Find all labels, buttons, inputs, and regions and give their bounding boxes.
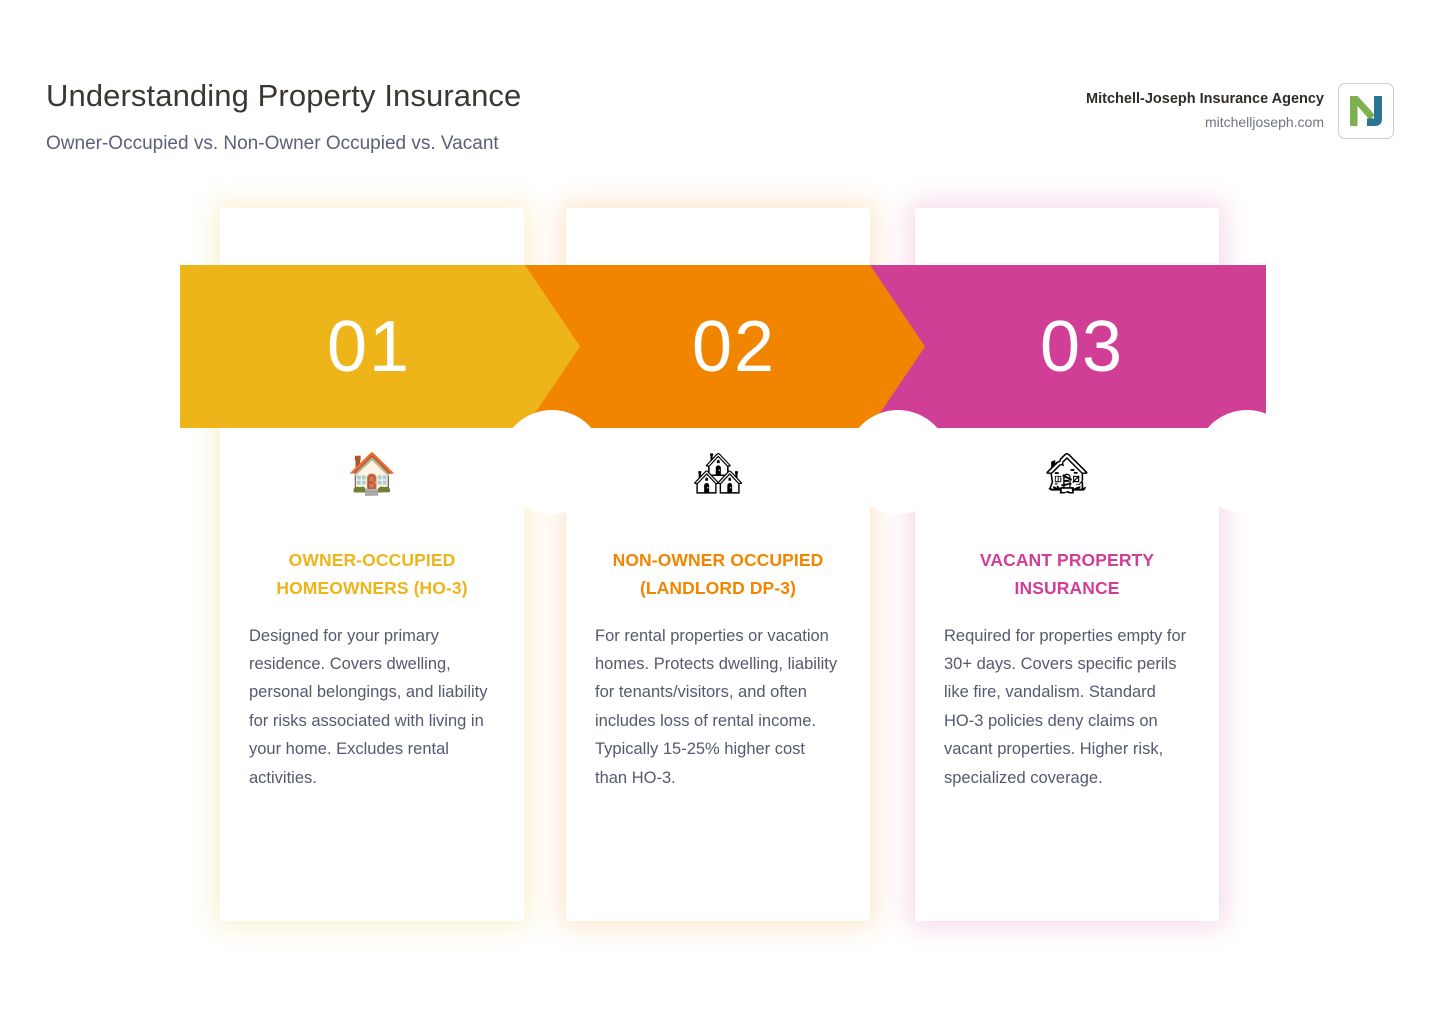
brand-url: mitchelljoseph.com	[1086, 113, 1324, 132]
house-icon: 🏠	[248, 454, 496, 500]
chevron-step-2: 02	[525, 265, 925, 428]
chevron-notch-2	[846, 410, 950, 514]
page-subtitle: Owner-Occupied vs. Non-Owner Occupied vs…	[46, 133, 499, 155]
step-card-2-body: For rental properties or vacation homes.…	[594, 622, 842, 792]
step-chevron-banner: 03 02 01	[180, 265, 1266, 428]
step-card-1-body: Designed for your primary residence. Cov…	[248, 622, 496, 792]
brand-name: Mitchell-Joseph Insurance Agency	[1086, 90, 1324, 110]
chevron-step-1-number: 01	[180, 265, 580, 428]
step-card-1-content: 🏠 Owner-Occupied Homeowners (HO-3) Desig…	[220, 454, 524, 792]
chevron-step-3: 03	[870, 265, 1266, 428]
step-card-2-content: 🏘 Non-Owner Occupied (Landlord DP-3) For…	[566, 454, 870, 792]
chevron-step-3-number: 03	[870, 265, 1266, 428]
chevron-step-1: 01	[180, 265, 580, 428]
chevron-notch-1	[500, 410, 604, 514]
infographic-page: Understanding Property Insurance Owner-O…	[0, 0, 1440, 1024]
derelict-house-icon: 🏚	[943, 454, 1191, 500]
page-title: Understanding Property Insurance	[46, 78, 521, 114]
brand-block: Mitchell-Joseph Insurance Agency mitchel…	[1086, 83, 1394, 139]
step-card-2-title: Non-Owner Occupied (Landlord DP-3)	[594, 546, 842, 603]
brand-text: Mitchell-Joseph Insurance Agency mitchel…	[1086, 90, 1324, 131]
chevron-notch-3	[1195, 410, 1299, 514]
step-card-1-title: Owner-Occupied Homeowners (HO-3)	[248, 546, 496, 603]
houses-icon: 🏘	[594, 454, 842, 500]
step-card-3-title: Vacant Property Insurance	[943, 546, 1191, 603]
step-card-3-body: Required for properties empty for 30+ da…	[943, 622, 1191, 792]
chevron-step-2-number: 02	[525, 265, 925, 428]
mj-monogram-logo-icon	[1338, 83, 1394, 139]
step-card-3-content: 🏚 Vacant Property Insurance Required for…	[915, 454, 1219, 792]
